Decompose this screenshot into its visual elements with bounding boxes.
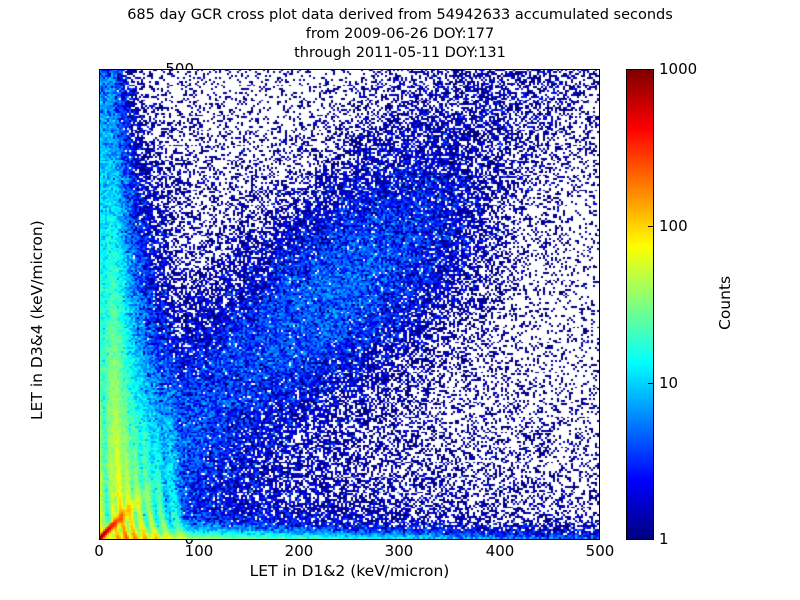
colorbar — [626, 69, 654, 540]
colorbar-tick-mark-10 — [648, 383, 654, 384]
x-tick-label-0: 0 — [79, 544, 119, 559]
colorbar-tick-label-10: 10 — [659, 376, 678, 391]
x-tick-label-500: 500 — [580, 544, 620, 559]
x-tick-label-300: 300 — [379, 544, 419, 559]
x-tick-label-400: 400 — [480, 544, 520, 559]
colorbar-gradient — [627, 70, 653, 539]
x-tick-label-200: 200 — [279, 544, 319, 559]
colorbar-tick-mark-100 — [648, 226, 654, 227]
colorbar-tick-label-1000: 1000 — [659, 62, 697, 77]
x-tick-label-100: 100 — [179, 544, 219, 559]
plot-area — [99, 69, 600, 540]
density-heatmap-canvas — [100, 70, 599, 539]
y-axis-label: LET in D3&4 (keV/micron) — [28, 220, 46, 420]
chart-title-block: 685 day GCR cross plot data derived from… — [0, 6, 800, 63]
figure-root: 685 day GCR cross plot data derived from… — [0, 0, 800, 600]
colorbar-tick-label-100: 100 — [659, 219, 688, 234]
colorbar-tick-label-1: 1 — [659, 532, 669, 547]
x-axis-label: LET in D1&2 (keV/micron) — [99, 562, 600, 580]
colorbar-label: Counts — [716, 276, 734, 330]
chart-title-line-2: from 2009-06-26 DOY:177 — [0, 25, 800, 44]
chart-title-line-1: 685 day GCR cross plot data derived from… — [0, 6, 800, 25]
